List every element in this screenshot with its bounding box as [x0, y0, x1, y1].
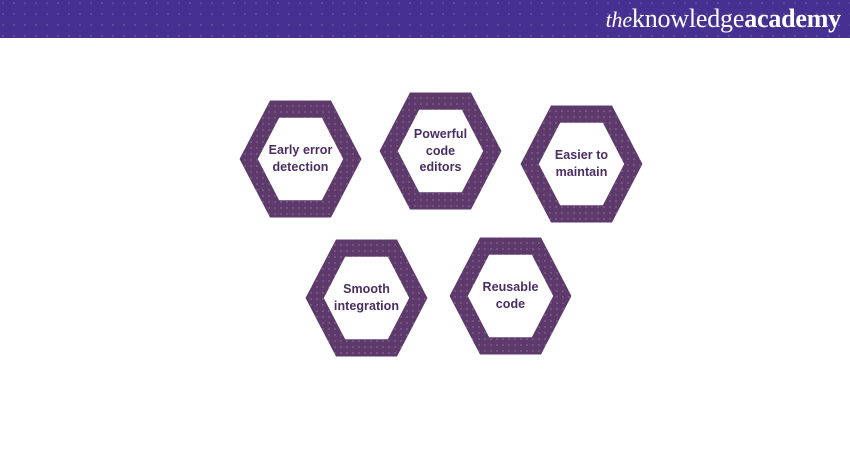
hexagon-node-reusable-code[interactable]: Reusable code	[447, 235, 574, 357]
hexagon-node-easier-to-maintain[interactable]: Easier to maintain	[518, 103, 645, 225]
brand-logo[interactable]: theknowledgeacademy	[606, 6, 850, 32]
page-root: theknowledgeacademy Early error detectio…	[0, 0, 850, 450]
hexagon-label: Smooth integration	[331, 281, 402, 315]
logo-word-academy: academy	[744, 6, 841, 32]
hexagon-node-early-error-detection[interactable]: Early error detection	[237, 98, 364, 220]
hexagon-node-smooth-integration[interactable]: Smooth integration	[303, 237, 430, 359]
logo-word-knowledge: knowledge	[632, 6, 744, 32]
hexagon-label: Powerful code editors	[411, 126, 470, 176]
hexagon-label: Reusable code	[480, 279, 542, 313]
header-bar: theknowledgeacademy	[0, 0, 850, 38]
hexagon-label: Easier to maintain	[552, 147, 611, 181]
hexagon-diagram: Early error detection Powerful code edit…	[0, 38, 850, 450]
logo-word-the: the	[606, 9, 632, 31]
hexagon-node-powerful-code-editors[interactable]: Powerful code editors	[377, 90, 504, 212]
hexagon-label: Early error detection	[266, 142, 336, 176]
